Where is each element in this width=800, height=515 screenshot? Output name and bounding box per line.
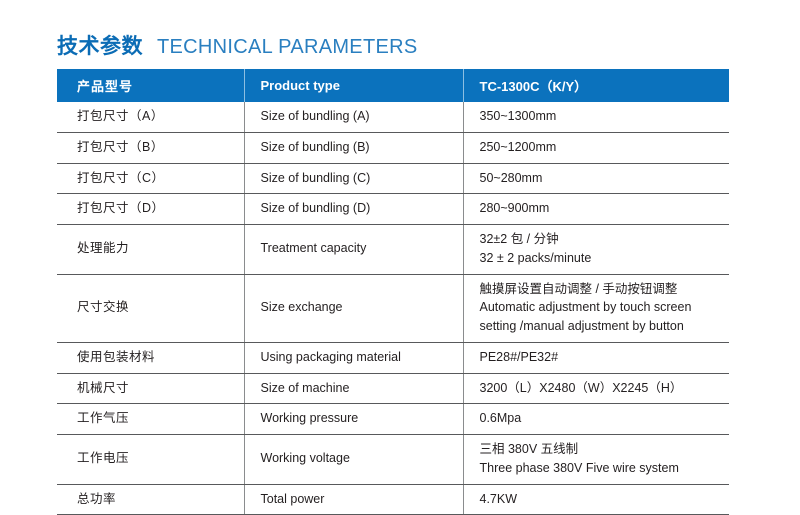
- table-row: 机械尺寸Size of machine3200（L）X2480（W）X2245（…: [57, 373, 729, 404]
- cell-parameter-cn: 处理能力: [57, 225, 244, 275]
- table-row: 总功率Total power4.7KW: [57, 484, 729, 515]
- cell-parameter-en: Treatment capacity: [244, 225, 463, 275]
- cell-parameter-en: Size of machine: [244, 373, 463, 404]
- cell-parameter-en: Using packaging material: [244, 342, 463, 373]
- cell-parameter-cn: 尺寸交换: [57, 274, 244, 342]
- cell-parameter-en: Working pressure: [244, 404, 463, 435]
- technical-parameters-table: 产品型号 Product type TC-1300C（K/Y） 打包尺寸（A）S…: [57, 69, 729, 515]
- cell-parameter-en: Size of bundling (A): [244, 102, 463, 132]
- cell-parameter-en: Total power: [244, 484, 463, 515]
- cell-parameter-value: PE28#/PE32#: [463, 342, 729, 373]
- column-header-model: TC-1300C（K/Y）: [463, 69, 729, 102]
- cell-value-line: setting /manual adjustment by button: [480, 318, 730, 336]
- cell-parameter-cn: 总功率: [57, 484, 244, 515]
- cell-value-line: 三相 380V 五线制: [480, 441, 730, 459]
- spec-sheet-page: 技术参数 TECHNICAL PARAMETERS 产品型号 Product t…: [0, 0, 800, 454]
- table-body: 打包尺寸（A）Size of bundling (A)350~1300mm打包尺…: [57, 102, 729, 515]
- cell-parameter-cn: 机械尺寸: [57, 373, 244, 404]
- table-row: 工作气压Working pressure0.6Mpa: [57, 404, 729, 435]
- cell-value-line: PE28#/PE32#: [480, 349, 730, 367]
- table-row: 打包尺寸（C）Size of bundling (C)50~280mm: [57, 163, 729, 194]
- table-row: 打包尺寸（D）Size of bundling (D)280~900mm: [57, 194, 729, 225]
- page-title-english: TECHNICAL PARAMETERS: [157, 36, 417, 59]
- cell-value-line: 350~1300mm: [480, 108, 730, 126]
- cell-parameter-en: Size of bundling (C): [244, 163, 463, 194]
- cell-parameter-en: Size of bundling (D): [244, 194, 463, 225]
- cell-parameter-value: 3200（L）X2480（W）X2245（H）: [463, 373, 729, 404]
- cell-parameter-value: 250~1200mm: [463, 132, 729, 163]
- table-header-row: 产品型号 Product type TC-1300C（K/Y）: [57, 69, 729, 102]
- table-header: 产品型号 Product type TC-1300C（K/Y）: [57, 69, 729, 102]
- cell-value-line: 250~1200mm: [480, 139, 730, 157]
- cell-parameter-cn: 使用包装材料: [57, 342, 244, 373]
- table-row: 处理能力Treatment capacity32±2 包 / 分钟32 ± 2 …: [57, 225, 729, 275]
- table-row: 打包尺寸（A）Size of bundling (A)350~1300mm: [57, 102, 729, 132]
- cell-value-line: Three phase 380V Five wire system: [480, 460, 730, 478]
- page-title-chinese: 技术参数: [57, 30, 143, 60]
- cell-parameter-en: Size exchange: [244, 274, 463, 342]
- cell-parameter-value: 32±2 包 / 分钟32 ± 2 packs/minute: [463, 225, 729, 275]
- cell-parameter-value: 50~280mm: [463, 163, 729, 194]
- cell-parameter-cn: 工作气压: [57, 404, 244, 435]
- cell-value-line: Automatic adjustment by touch screen: [480, 299, 730, 317]
- cell-value-line: 触摸屏设置自动调整 / 手动按钮调整: [480, 281, 730, 299]
- column-header-product-type-cn: 产品型号: [57, 69, 244, 102]
- table-row: 尺寸交换Size exchange触摸屏设置自动调整 / 手动按钮调整Autom…: [57, 274, 729, 342]
- cell-value-line: 3200（L）X2480（W）X2245（H）: [480, 380, 730, 398]
- cell-parameter-value: 4.7KW: [463, 484, 729, 515]
- column-header-product-type-en: Product type: [244, 69, 463, 102]
- cell-parameter-value: 280~900mm: [463, 194, 729, 225]
- cell-value-line: 32±2 包 / 分钟: [480, 231, 730, 249]
- cell-value-line: 50~280mm: [480, 170, 730, 188]
- cell-parameter-cn: 工作电压: [57, 435, 244, 485]
- table-row: 使用包装材料Using packaging materialPE28#/PE32…: [57, 342, 729, 373]
- cell-parameter-cn: 打包尺寸（B）: [57, 132, 244, 163]
- cell-value-line: 32 ± 2 packs/minute: [480, 250, 730, 268]
- cell-value-line: 0.6Mpa: [480, 410, 730, 428]
- table-row: 工作电压Working voltage三相 380V 五线制Three phas…: [57, 435, 729, 485]
- cell-parameter-cn: 打包尺寸（A）: [57, 102, 244, 132]
- cell-parameter-value: 触摸屏设置自动调整 / 手动按钮调整Automatic adjustment b…: [463, 274, 729, 342]
- cell-parameter-en: Working voltage: [244, 435, 463, 485]
- cell-parameter-en: Size of bundling (B): [244, 132, 463, 163]
- cell-parameter-value: 0.6Mpa: [463, 404, 729, 435]
- table-row: 打包尺寸（B）Size of bundling (B)250~1200mm: [57, 132, 729, 163]
- cell-parameter-value: 350~1300mm: [463, 102, 729, 132]
- cell-parameter-cn: 打包尺寸（D）: [57, 194, 244, 225]
- cell-parameter-value: 三相 380V 五线制Three phase 380V Five wire sy…: [463, 435, 729, 485]
- cell-value-line: 280~900mm: [480, 200, 730, 218]
- cell-value-line: 4.7KW: [480, 491, 730, 509]
- page-title: 技术参数 TECHNICAL PARAMETERS: [57, 30, 417, 60]
- cell-parameter-cn: 打包尺寸（C）: [57, 163, 244, 194]
